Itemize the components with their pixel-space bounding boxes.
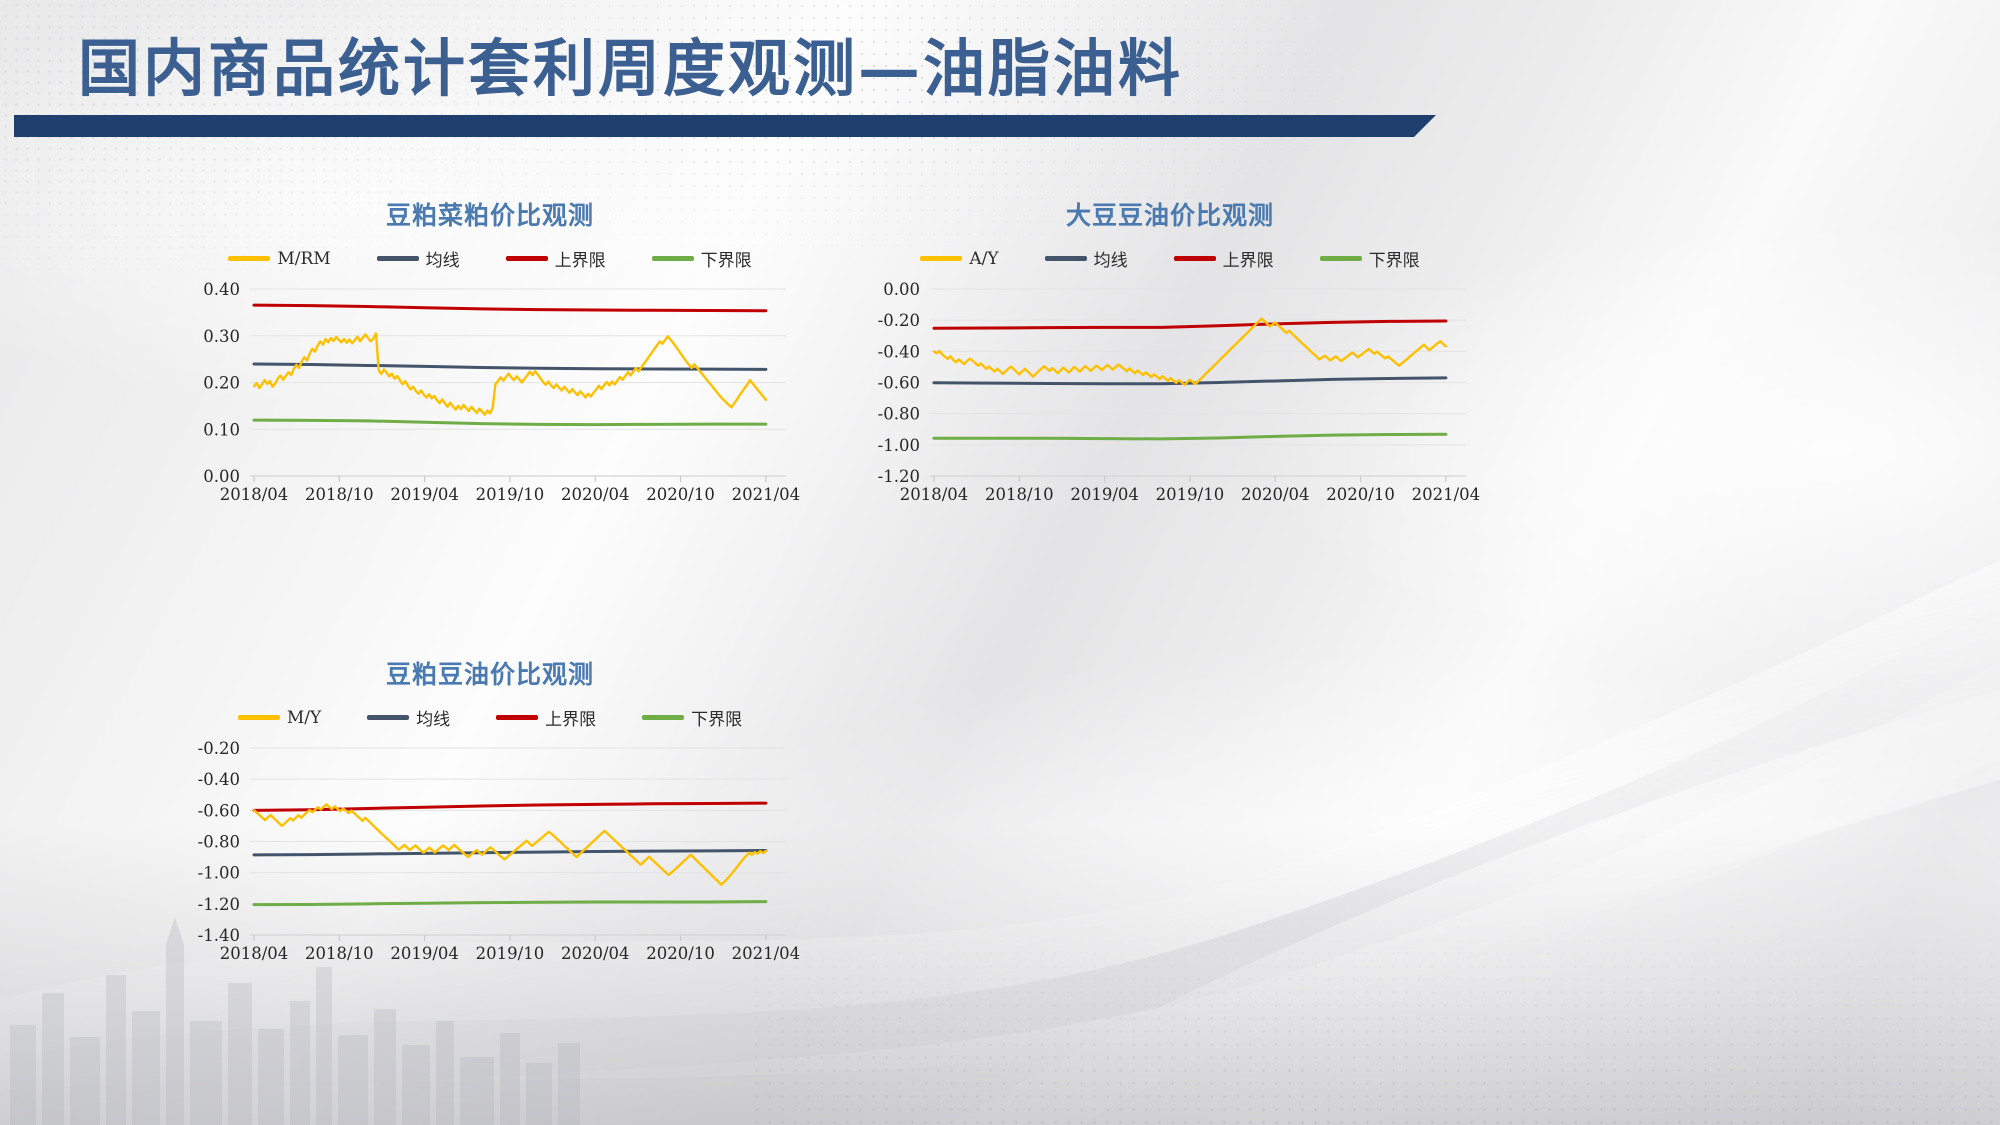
chart-dadou-douyou-ytick: -0.80	[878, 405, 920, 424]
chart-doupo-douyou: 豆粕豆油价比观测M/Y均线上界限下界限-1.40-1.20-1.00-0.80-…	[180, 655, 800, 991]
chart-doupo-douyou-xtick: 2019/10	[476, 944, 545, 963]
chart-doupo-caipo-series-3	[254, 420, 766, 424]
chart-dadou-douyou-legend-swatch-0	[920, 256, 962, 261]
page-title: 国内商品统计套利周度观测—油脂油料	[0, 36, 1430, 103]
chart-doupo-douyou-legend-label-2: 上界限	[545, 705, 596, 730]
chart-doupo-caipo-xtick: 2018/04	[220, 485, 289, 504]
chart-dadou-douyou-legend-label-1: 均线	[1094, 246, 1128, 271]
chart-doupo-caipo-series-2	[254, 305, 766, 311]
chart-doupo-douyou-legend-label-3: 下界限	[691, 705, 742, 730]
chart-doupo-douyou-legend-item-3[interactable]: 下界限	[642, 705, 742, 730]
chart-doupo-caipo-legend: M/RM均线上界限下界限	[180, 246, 800, 271]
chart-dadou-douyou-ytick: 0.00	[883, 281, 920, 299]
chart-dadou-douyou-xtick: 2020/10	[1326, 485, 1395, 504]
chart-dadou-douyou-legend-label-2: 上界限	[1223, 246, 1274, 271]
chart-doupo-douyou-legend-label-1: 均线	[416, 705, 450, 730]
chart-dadou-douyou-xtick: 2019/04	[1070, 485, 1139, 504]
chart-dadou-douyou: 大豆豆油价比观测A/Y均线上界限下界限-1.20-1.00-0.80-0.60-…	[860, 196, 1480, 532]
chart-doupo-caipo-title: 豆粕菜粕价比观测	[180, 196, 800, 232]
chart-dadou-douyou-xtick: 2018/10	[985, 485, 1054, 504]
chart-doupo-douyou-plot: -1.40-1.20-1.00-0.80-0.60-0.40-0.202018/…	[180, 740, 800, 991]
chart-doupo-caipo-ytick: 0.00	[203, 467, 240, 486]
chart-doupo-douyou-xtick: 2019/04	[390, 944, 459, 963]
chart-doupo-caipo-legend-swatch-3	[652, 256, 694, 261]
chart-dadou-douyou-series-3	[934, 434, 1446, 439]
chart-doupo-douyou-xtick: 2018/04	[220, 944, 289, 963]
chart-doupo-douyou-legend-swatch-3	[642, 715, 684, 720]
chart-dadou-douyou-xtick: 2020/04	[1241, 485, 1310, 504]
chart-doupo-caipo-legend-label-3: 下界限	[701, 246, 752, 271]
chart-doupo-caipo-legend-swatch-1	[377, 256, 419, 261]
chart-doupo-douyou-ytick: -1.20	[198, 895, 240, 914]
chart-dadou-douyou-ytick: -1.20	[878, 467, 920, 486]
slide-title-block: 国内商品统计套利周度观测—油脂油料	[0, 36, 1430, 139]
chart-dadou-douyou-title: 大豆豆油价比观测	[860, 196, 1480, 232]
title-underline-wrap	[0, 115, 1430, 139]
chart-dadou-douyou-legend-label-3: 下界限	[1369, 246, 1420, 271]
chart-doupo-caipo-legend-swatch-0	[228, 256, 270, 261]
chart-doupo-douyou-ytick: -1.40	[198, 926, 240, 945]
chart-doupo-caipo-legend-item-1[interactable]: 均线	[377, 246, 460, 271]
chart-doupo-caipo-xtick: 2019/10	[476, 485, 545, 504]
chart-doupo-caipo-xtick: 2018/10	[305, 485, 374, 504]
chart-doupo-douyou-ytick: -1.00	[198, 864, 240, 883]
chart-doupo-caipo-legend-item-2[interactable]: 上界限	[506, 246, 606, 271]
chart-dadou-douyou-legend-item-3[interactable]: 下界限	[1320, 246, 1420, 271]
chart-doupo-douyou-xtick: 2020/04	[561, 944, 630, 963]
chart-dadou-douyou-xtick: 2018/04	[900, 485, 969, 504]
chart-doupo-douyou-legend-swatch-2	[496, 715, 538, 720]
chart-dadou-douyou-xtick: 2019/10	[1156, 485, 1225, 504]
chart-doupo-douyou-ytick: -0.40	[198, 770, 240, 789]
chart-doupo-douyou-legend-label-0: M/Y	[287, 708, 321, 728]
chart-doupo-douyou-legend-swatch-1	[367, 715, 409, 720]
chart-dadou-douyou-legend-item-1[interactable]: 均线	[1045, 246, 1128, 271]
chart-dadou-douyou-xtick: 2021/04	[1412, 485, 1480, 504]
chart-dadou-douyou-series-2	[934, 321, 1446, 328]
title-accent-bar	[14, 115, 1414, 137]
chart-doupo-caipo-plot: 0.000.100.200.300.402018/042018/102019/0…	[180, 281, 800, 532]
chart-dadou-douyou-ytick: -1.00	[878, 436, 920, 455]
chart-doupo-douyou-ytick: -0.60	[198, 801, 240, 820]
chart-dadou-douyou-legend-swatch-1	[1045, 256, 1087, 261]
chart-doupo-caipo-legend-label-1: 均线	[426, 246, 460, 271]
chart-doupo-douyou-ytick: -0.20	[198, 740, 240, 758]
chart-doupo-douyou-xtick: 2021/04	[732, 944, 800, 963]
chart-dadou-douyou-legend-item-0[interactable]: A/Y	[920, 249, 998, 269]
chart-doupo-caipo-ytick: 0.40	[203, 281, 240, 299]
chart-doupo-douyou-xtick: 2018/10	[305, 944, 374, 963]
chart-doupo-caipo-xtick: 2020/04	[561, 485, 630, 504]
chart-dadou-douyou-legend-swatch-2	[1174, 256, 1216, 261]
chart-dadou-douyou-plot: -1.20-1.00-0.80-0.60-0.40-0.200.002018/0…	[860, 281, 1480, 532]
chart-doupo-caipo-legend-swatch-2	[506, 256, 548, 261]
chart-doupo-douyou-legend-item-2[interactable]: 上界限	[496, 705, 596, 730]
chart-doupo-caipo-legend-item-0[interactable]: M/RM	[228, 249, 330, 269]
chart-doupo-caipo-legend-label-2: 上界限	[555, 246, 606, 271]
chart-doupo-douyou-ytick: -0.80	[198, 833, 240, 852]
chart-doupo-caipo-legend-label-0: M/RM	[277, 249, 330, 269]
chart-dadou-douyou-legend-item-2[interactable]: 上界限	[1174, 246, 1274, 271]
chart-dadou-douyou-ytick: -0.40	[878, 342, 920, 361]
chart-doupo-caipo-ytick: 0.10	[203, 420, 240, 439]
chart-doupo-caipo-xtick: 2020/10	[646, 485, 715, 504]
chart-dadou-douyou-ytick: -0.20	[878, 311, 920, 330]
chart-doupo-caipo-legend-item-3[interactable]: 下界限	[652, 246, 752, 271]
chart-dadou-douyou-legend-label-0: A/Y	[969, 249, 998, 269]
chart-doupo-douyou-legend-item-1[interactable]: 均线	[367, 705, 450, 730]
chart-doupo-douyou-legend: M/Y均线上界限下界限	[180, 705, 800, 730]
chart-dadou-douyou-legend-swatch-3	[1320, 256, 1362, 261]
chart-doupo-douyou-legend-swatch-0	[238, 715, 280, 720]
chart-dadou-douyou-legend: A/Y均线上界限下界限	[860, 246, 1480, 271]
chart-doupo-caipo-ytick: 0.30	[203, 327, 240, 346]
chart-doupo-douyou-legend-item-0[interactable]: M/Y	[238, 708, 321, 728]
chart-doupo-caipo-xtick: 2021/04	[732, 485, 800, 504]
chart-doupo-caipo-ytick: 0.20	[203, 374, 240, 393]
chart-doupo-douyou-xtick: 2020/10	[646, 944, 715, 963]
chart-doupo-caipo: 豆粕菜粕价比观测M/RM均线上界限下界限0.000.100.200.300.40…	[180, 196, 800, 532]
chart-doupo-caipo-xtick: 2019/04	[390, 485, 459, 504]
chart-doupo-douyou-title: 豆粕豆油价比观测	[180, 655, 800, 691]
chart-dadou-douyou-ytick: -0.60	[878, 374, 920, 393]
chart-doupo-caipo-series-0	[254, 333, 766, 414]
